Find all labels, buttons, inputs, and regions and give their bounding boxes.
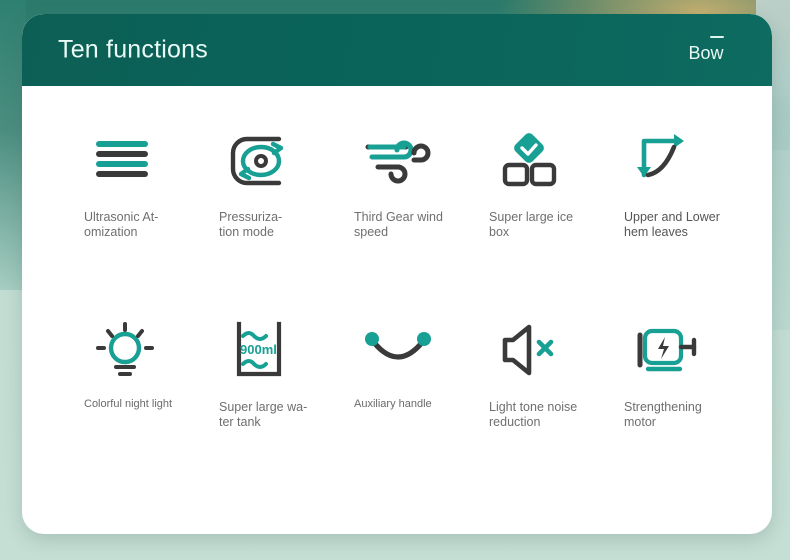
feature-item-ice-box[interactable]: Super large icebox	[489, 128, 622, 318]
motor-icon	[624, 318, 757, 384]
stacked-bars-icon	[84, 128, 217, 194]
features-card: Ten functions Bow Ultrasonic At-omizatio…	[22, 14, 772, 534]
feature-item-hem-leaves[interactable]: Upper and Lowerhem leaves	[624, 128, 757, 318]
feature-row: Ultrasonic At-omization Pressuriza-tion …	[22, 128, 772, 318]
feature-item-auxiliary-handle[interactable]: Auxiliary handle	[354, 318, 487, 508]
feature-item-water-tank[interactable]: 900ml Super large wa-ter tank	[219, 318, 352, 508]
feature-item-wind-speed[interactable]: Third Gear windspeed	[354, 128, 487, 318]
feature-label: Light tone noisereduction	[489, 400, 609, 431]
card-header: Ten functions Bow	[22, 14, 772, 86]
feature-item-motor[interactable]: Strengtheningmotor	[624, 318, 757, 508]
feature-label: Colorful night light	[84, 398, 204, 411]
dash-icon	[710, 36, 724, 38]
water-tank-icon: 900ml	[219, 318, 352, 384]
bow-indicator: Bow	[688, 36, 724, 64]
page-title: Ten functions	[58, 36, 208, 65]
feature-item-noise-reduction[interactable]: Light tone noisereduction	[489, 318, 622, 508]
feature-row: Colorful night light 900ml Super large w…	[22, 318, 772, 508]
feature-item-ultrasonic-atomization[interactable]: Ultrasonic At-omization	[84, 128, 217, 318]
wind-speed-icon	[354, 128, 487, 194]
feature-label: Ultrasonic At-omization	[84, 210, 204, 241]
feature-label: Strengtheningmotor	[624, 400, 744, 431]
light-bulb-icon	[84, 318, 217, 384]
mute-speaker-icon	[489, 318, 622, 384]
features-grid: Ultrasonic At-omization Pressuriza-tion …	[22, 86, 772, 508]
water-capacity-badge: 900ml	[240, 342, 277, 357]
up-down-arrows-icon	[624, 128, 757, 194]
feature-label: Third Gear windspeed	[354, 210, 474, 241]
feature-item-night-light[interactable]: Colorful night light	[84, 318, 217, 508]
feature-label: Pressuriza-tion mode	[219, 210, 339, 241]
ice-box-icon	[489, 128, 622, 194]
feature-item-pressurization-mode[interactable]: Pressuriza-tion mode	[219, 128, 352, 318]
feature-label: Super large wa-ter tank	[219, 400, 339, 431]
feature-label: Auxiliary handle	[354, 398, 474, 411]
pressurization-swirl-icon	[219, 128, 352, 194]
feature-label: Super large icebox	[489, 210, 609, 241]
feature-label: Upper and Lowerhem leaves	[624, 210, 744, 241]
handle-icon	[354, 318, 487, 384]
bow-label: Bow	[688, 43, 724, 64]
